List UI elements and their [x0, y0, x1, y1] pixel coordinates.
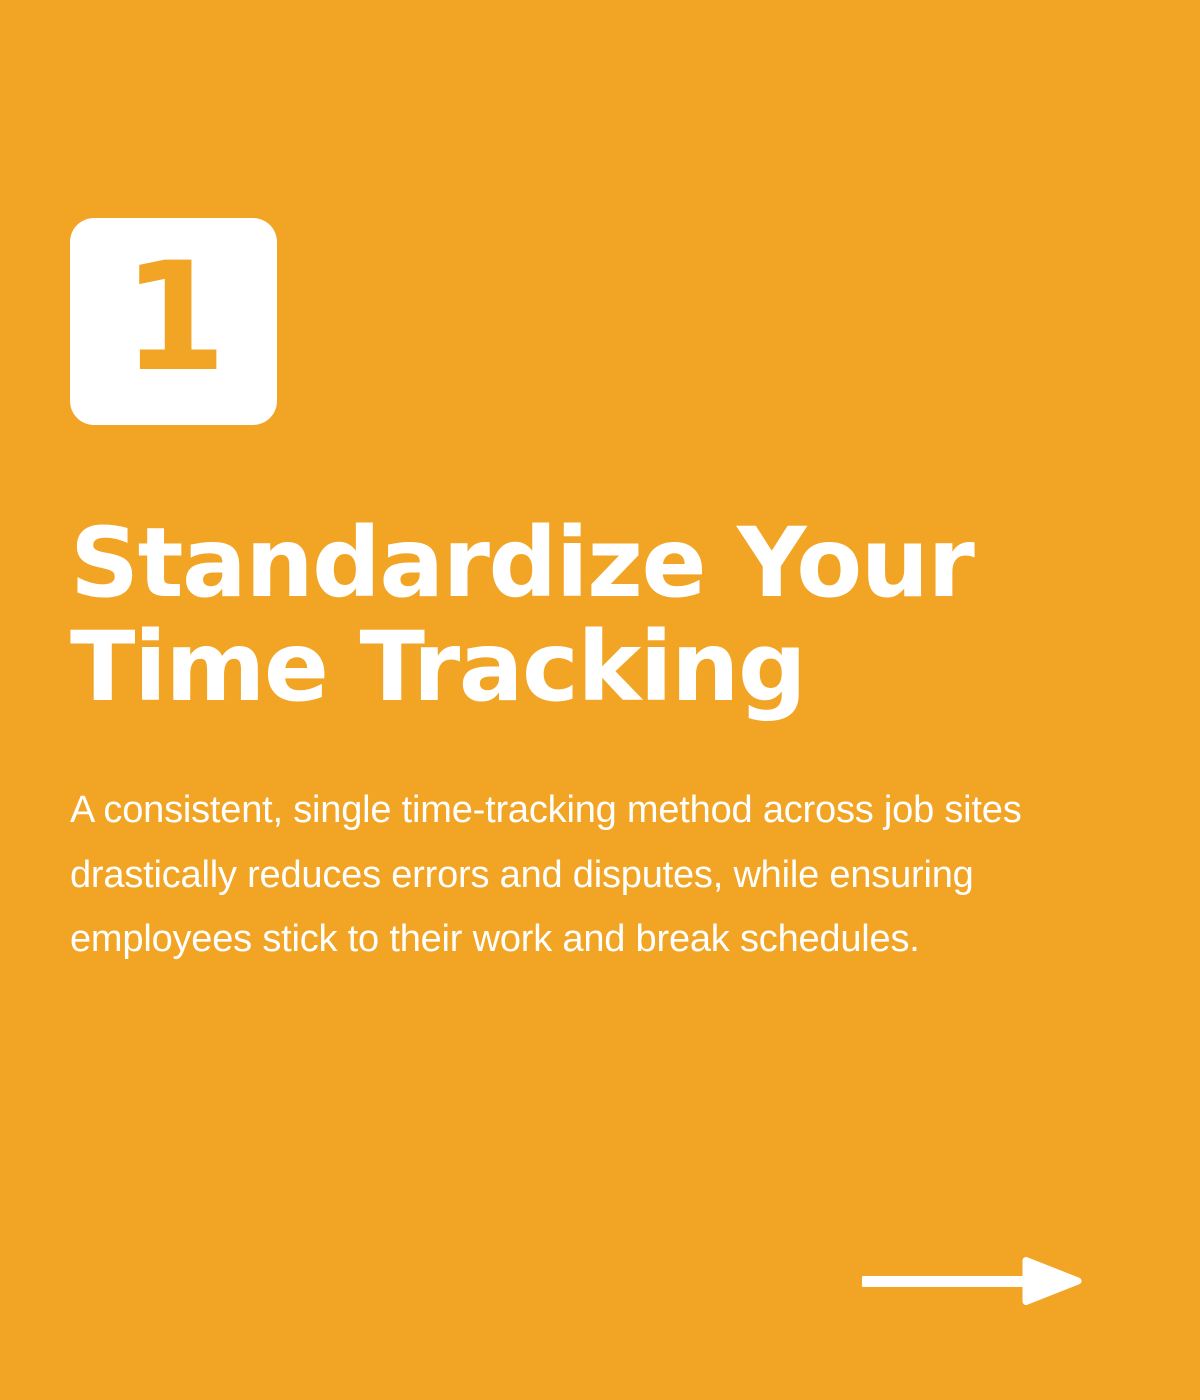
page-title-line-1: Standardize Your	[70, 512, 970, 616]
next-slide-button[interactable]	[858, 1252, 1082, 1310]
step-number-badge: 1	[70, 218, 277, 425]
carousel-slide: 1 Standardize Your Time Tracking A consi…	[0, 0, 1200, 1400]
page-title: Standardize Your Time Tracking	[70, 512, 970, 719]
step-number-value: 1	[122, 243, 224, 393]
body-text: A consistent, single time-tracking metho…	[70, 778, 1140, 972]
page-title-line-2: Time Tracking	[70, 616, 970, 720]
arrow-right-icon	[858, 1252, 1082, 1310]
